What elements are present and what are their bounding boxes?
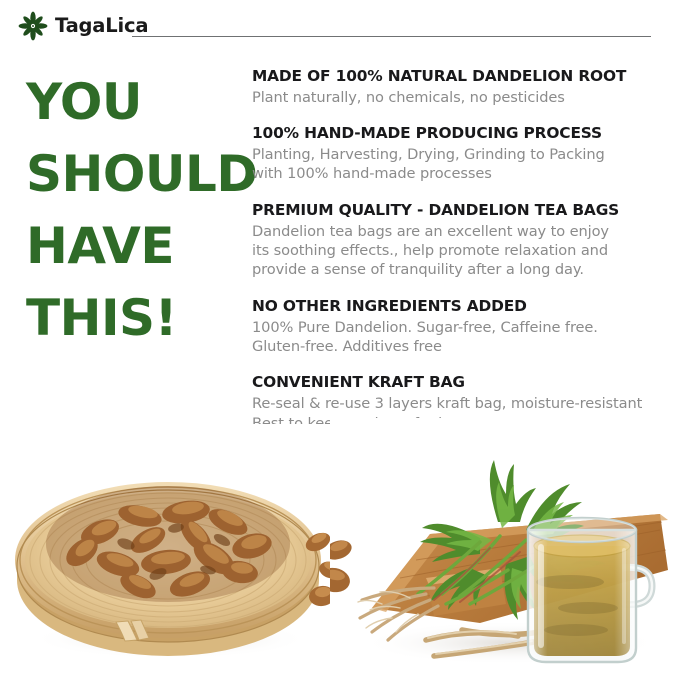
flower-mandala-icon — [18, 11, 48, 41]
tea-glass-mug — [528, 518, 652, 662]
headline-line-1: YOU — [26, 66, 241, 138]
feature-body-line: Planting, Harvesting, Drying, Grinding t… — [252, 145, 670, 164]
feature-body-line: provide a sense of tranquility after a l… — [252, 260, 670, 279]
feature-title: NO OTHER INGREDIENTS ADDED — [252, 296, 670, 317]
feature-body-line: with 100% hand-made processes — [252, 164, 670, 183]
feature-title: PREMIUM QUALITY - DANDELION TEA BAGS — [252, 200, 670, 221]
feature-body-line: Re-seal & re-use 3 layers kraft bag, moi… — [252, 394, 670, 413]
brand-logo[interactable]: TagaLica — [18, 11, 148, 41]
page-headline: YOU SHOULD HAVE THIS! — [26, 66, 241, 354]
feature-item: NO OTHER INGREDIENTS ADDED 100% Pure Dan… — [252, 296, 670, 357]
feature-body-line: Gluten-free. Additives free — [252, 337, 670, 356]
feature-item: 100% HAND-MADE PRODUCING PROCESS Plantin… — [252, 123, 670, 184]
headline-line-4: THIS! — [26, 282, 241, 354]
product-photo-strip — [0, 424, 679, 679]
feature-item: PREMIUM QUALITY - DANDELION TEA BAGS Dan… — [252, 200, 670, 280]
fresh-dandelion-plant-and-tea-glass-photo — [330, 418, 679, 679]
feature-list: MADE OF 100% NATURAL DANDELION ROOT Plan… — [252, 66, 670, 433]
feature-body: Dandelion tea bags are an excellent way … — [252, 222, 670, 280]
feature-title: CONVENIENT KRAFT BAG — [252, 372, 670, 393]
feature-body-line: its soothing effects., help promote rela… — [252, 241, 670, 260]
feature-body: Plant naturally, no chemicals, no pestic… — [252, 88, 670, 107]
header-divider — [132, 36, 651, 37]
feature-body: 100% Pure Dandelion. Sugar-free, Caffein… — [252, 318, 670, 357]
feature-body: Planting, Harvesting, Drying, Grinding t… — [252, 145, 670, 184]
feature-title: MADE OF 100% NATURAL DANDELION ROOT — [252, 66, 670, 87]
feature-body-line: 100% Pure Dandelion. Sugar-free, Caffein… — [252, 318, 670, 337]
dried-dandelion-root-in-bamboo-basket-photo — [0, 424, 345, 679]
headline-line-3: HAVE — [26, 210, 241, 282]
headline-line-2: SHOULD — [26, 138, 241, 210]
feature-title: 100% HAND-MADE PRODUCING PROCESS — [252, 123, 670, 144]
feature-body-line: Dandelion tea bags are an excellent way … — [252, 222, 670, 241]
feature-item: MADE OF 100% NATURAL DANDELION ROOT Plan… — [252, 66, 670, 107]
page-header: TagaLica — [0, 0, 679, 52]
feature-body-line: Plant naturally, no chemicals, no pestic… — [252, 88, 670, 107]
brand-name: TagaLica — [55, 16, 148, 36]
